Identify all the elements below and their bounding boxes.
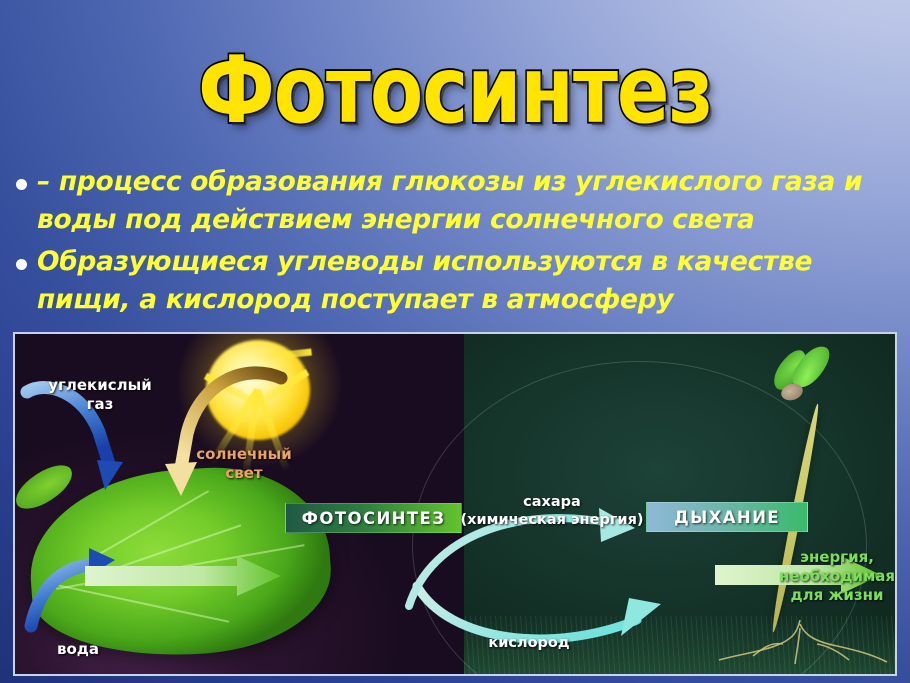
respiration-label-bar: ДЫХАНИЕ [646, 502, 808, 532]
energy-for-life-label: энергия, необходимая для жизни [774, 548, 897, 604]
bullet-text: – процесс образования глюкозы из углекис… [37, 163, 910, 239]
carbon-dioxide-label: углекислый газ [36, 376, 164, 414]
oxygen-label: кислород [464, 634, 594, 652]
bullet-list: – процесс образования глюкозы из углекис… [0, 163, 910, 324]
presentation-slide: Фотосинтез – процесс образования глюкозы… [0, 0, 910, 683]
page-title: Фотосинтез [198, 44, 713, 137]
photosynthesis-arrow-icon [85, 556, 285, 596]
photosynthesis-label: ФОТОСИНТЕЗ [302, 509, 446, 528]
sugars-label: сахара (химическая энергия) [457, 493, 647, 529]
list-item: – процесс образования глюкозы из углекис… [0, 163, 910, 239]
slide-title-container: Фотосинтез [0, 44, 910, 120]
respiration-label: ДЫХАНИЕ [674, 508, 780, 527]
list-item: Образующиеся углеводы используются в кач… [0, 243, 910, 319]
water-label: вода [45, 640, 111, 659]
bullet-dot-icon [16, 259, 27, 270]
bullet-text: Образующиеся углеводы используются в кач… [37, 243, 910, 319]
photosynthesis-label-bar: ФОТОСИНТЕЗ [285, 503, 462, 533]
photosynthesis-diagram-image: ФОТОСИНТЕЗ ДЫХАНИЕ углекислый газ солнеч… [13, 332, 897, 676]
bullet-dot-icon [16, 179, 27, 190]
root-system [705, 620, 895, 666]
sunlight-label: солнечный свет [180, 445, 308, 483]
